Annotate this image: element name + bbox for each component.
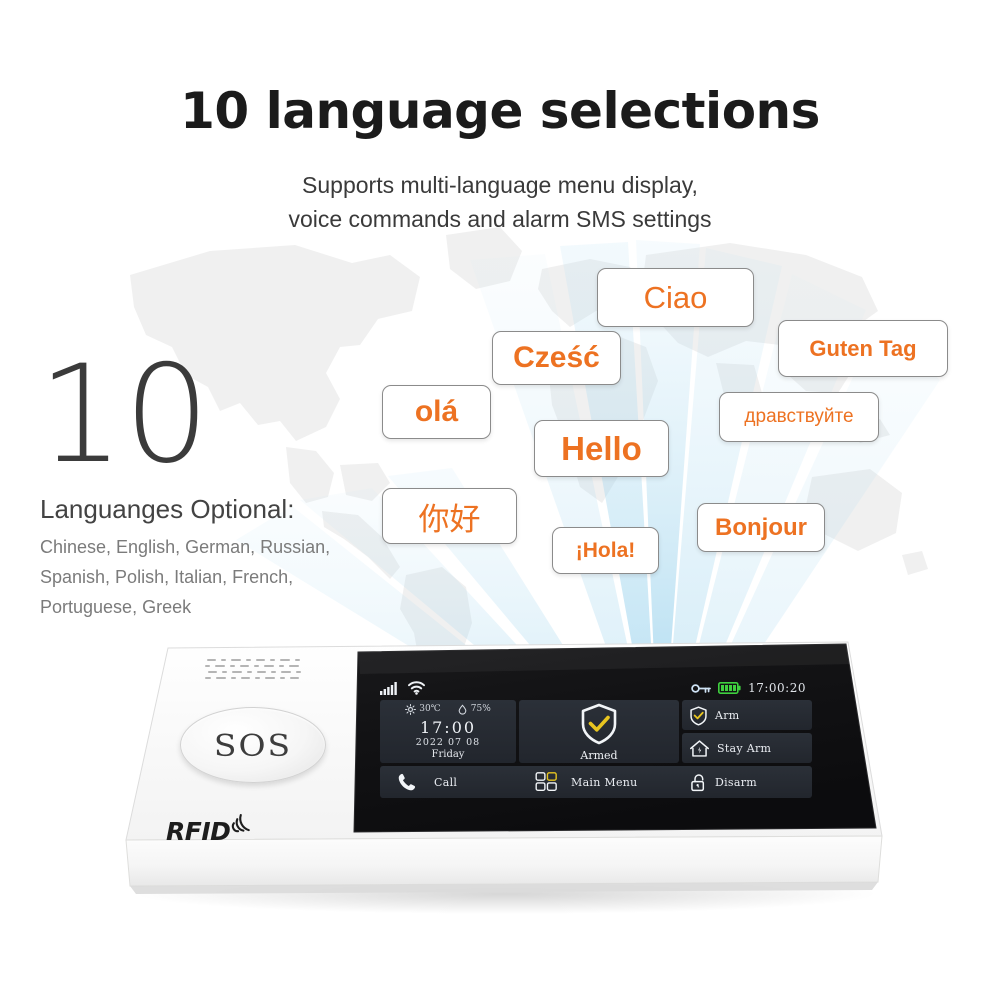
language-bubble-nihao: 你好 [382,488,517,544]
big-number-10: 10 [38,355,210,475]
key-icon [691,683,711,694]
speaker-grille [205,657,305,685]
home-person-icon [688,738,711,759]
languages-list-line-2: Spanish, Polish, Italian, French, [40,562,390,592]
tile-stay-arm[interactable]: Stay Arm [682,733,812,763]
tile-call[interactable]: Call [380,766,532,798]
armed-status-label: Armed [580,749,617,762]
panel-screen: 17:00:20 [372,676,812,806]
language-bubble-bonjour: Bonjour [697,503,825,552]
sun-icon [405,704,416,715]
page-subline: Supports multi-language menu display, vo… [0,168,1000,236]
rfid-wave-icon [231,813,251,840]
weather-row: 30℃ 75% [405,704,491,715]
screen-tile-grid: 30℃ 75% 17:00 2022 07 08 [380,700,806,800]
language-bubble-ciao: Ciao [597,268,754,327]
cellular-signal-icon [380,682,400,695]
tile-arm-label: Arm [715,709,740,722]
armed-status-tile[interactable]: Armed [519,700,679,763]
rfid-badge: RFID [166,812,286,846]
screen-status-bar: 17:00:20 [380,676,806,700]
weather-clock-tile[interactable]: 30℃ 75% 17:00 2022 07 08 [380,700,516,763]
wifi-icon [407,681,426,695]
grid-menu-icon [535,771,559,793]
humidity-drop-icon [457,704,468,715]
tile-disarm[interactable]: Disarm [682,766,812,798]
language-bubble-hello: Hello [534,420,669,477]
languages-optional-title: Languanges Optional: [40,494,294,525]
language-bubble-hola: ¡Hola! [552,527,659,574]
language-bubble-czesc: Cześć [492,331,621,385]
tile-disarm-label: Disarm [715,776,757,789]
page-headline: 10 language selections [0,82,1000,140]
date-value: 2022 07 08 [416,737,480,748]
status-bar-time: 17:00:20 [748,681,806,695]
sos-label: SOS [214,727,292,763]
tile-arm[interactable]: Arm [682,700,812,730]
phone-icon [396,771,418,793]
tile-call-label: Call [434,776,457,789]
battery-full-icon [718,682,741,694]
subline-line-1: Supports multi-language menu display, [0,168,1000,202]
rfid-label: RFID [166,817,230,846]
languages-list-line-1: Chinese, English, German, Russian, [40,532,390,562]
weekday-value: Friday [432,749,465,760]
language-bubble-guten-tag: Guten Tag [778,320,948,377]
shield-check-icon [576,701,622,747]
humidity-value: 75% [471,704,491,714]
subline-line-2: voice commands and alarm SMS settings [0,202,1000,236]
sos-button[interactable]: SOS [180,707,326,783]
tile-main-menu[interactable]: Main Menu [519,766,695,798]
clock-value: 17:00 [420,718,476,737]
language-bubble-russian: дравствуйте [719,392,879,442]
language-bubble-ola: olá [382,385,491,439]
tile-stay-arm-label: Stay Arm [717,742,771,755]
shield-check-icon [688,705,709,726]
temperature-value: 30℃ [419,704,441,714]
unlock-icon [688,772,709,793]
languages-list: Chinese, English, German, Russian, Spani… [40,532,390,622]
page-root: 10 language selections Supports multi-la… [0,0,1000,1000]
tile-main-menu-label: Main Menu [571,776,638,789]
languages-list-line-3: Portuguese, Greek [40,592,390,622]
